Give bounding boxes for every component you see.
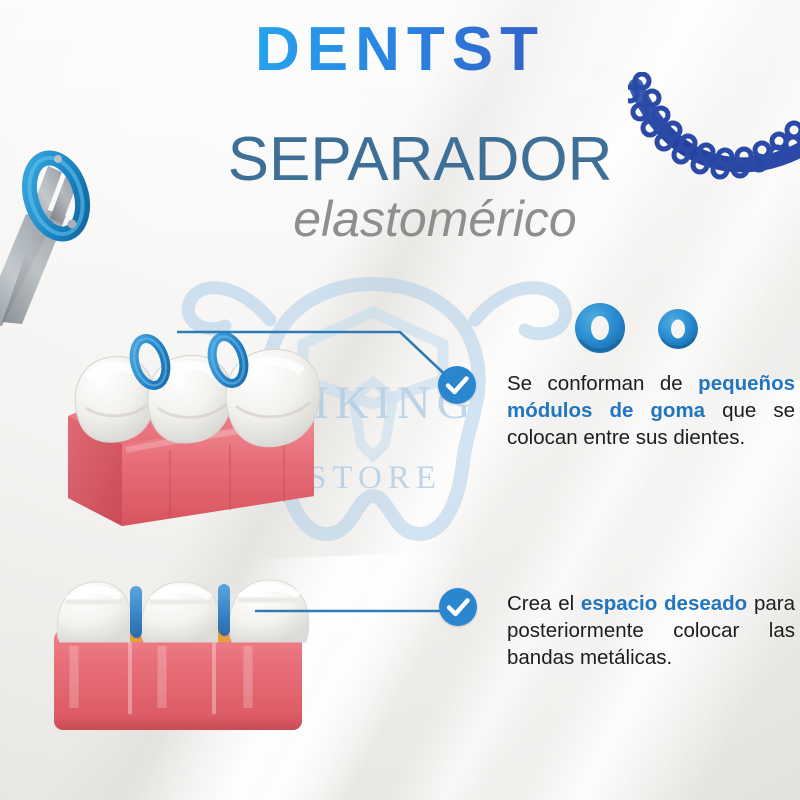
tooth-3 [229,580,308,642]
feature-2-highlight: espacio deseado [581,592,747,615]
elastomeric-separator-ring-small [655,306,701,352]
molar-1 [75,357,154,443]
tooth-1 [57,582,132,642]
feature-1-text-before: Se conforman de [507,372,698,395]
plier-tip-dot-top [54,155,62,163]
check-circle-icon-2 [439,588,477,626]
separator-placing-plier-icon [0,96,126,326]
teeth-model-with-rings-placed [42,572,338,750]
check-circle-icon-1 [438,366,476,404]
placed-separator-1 [130,586,142,638]
elastomeric-separator-ring-large [572,300,628,356]
plier-tip-dot-bottom [68,220,77,229]
feature-2-text-before: Crea el [507,592,581,615]
feature-description-1: Se conforman de pequeños módulos de goma… [507,370,795,451]
elastomeric-separator-strip-icon [628,72,800,207]
feature-description-2: Crea el espacio deseado para posteriorme… [507,590,795,671]
gum-block [54,630,302,730]
watermark-nose-guard [353,382,393,456]
teeth-model-with-rings-above [52,320,352,550]
tooth-2 [141,582,220,642]
poster-canvas: VIKING STORE DENTST SEPARADOR elastoméri… [0,0,800,800]
placed-separator-2 [218,584,230,636]
